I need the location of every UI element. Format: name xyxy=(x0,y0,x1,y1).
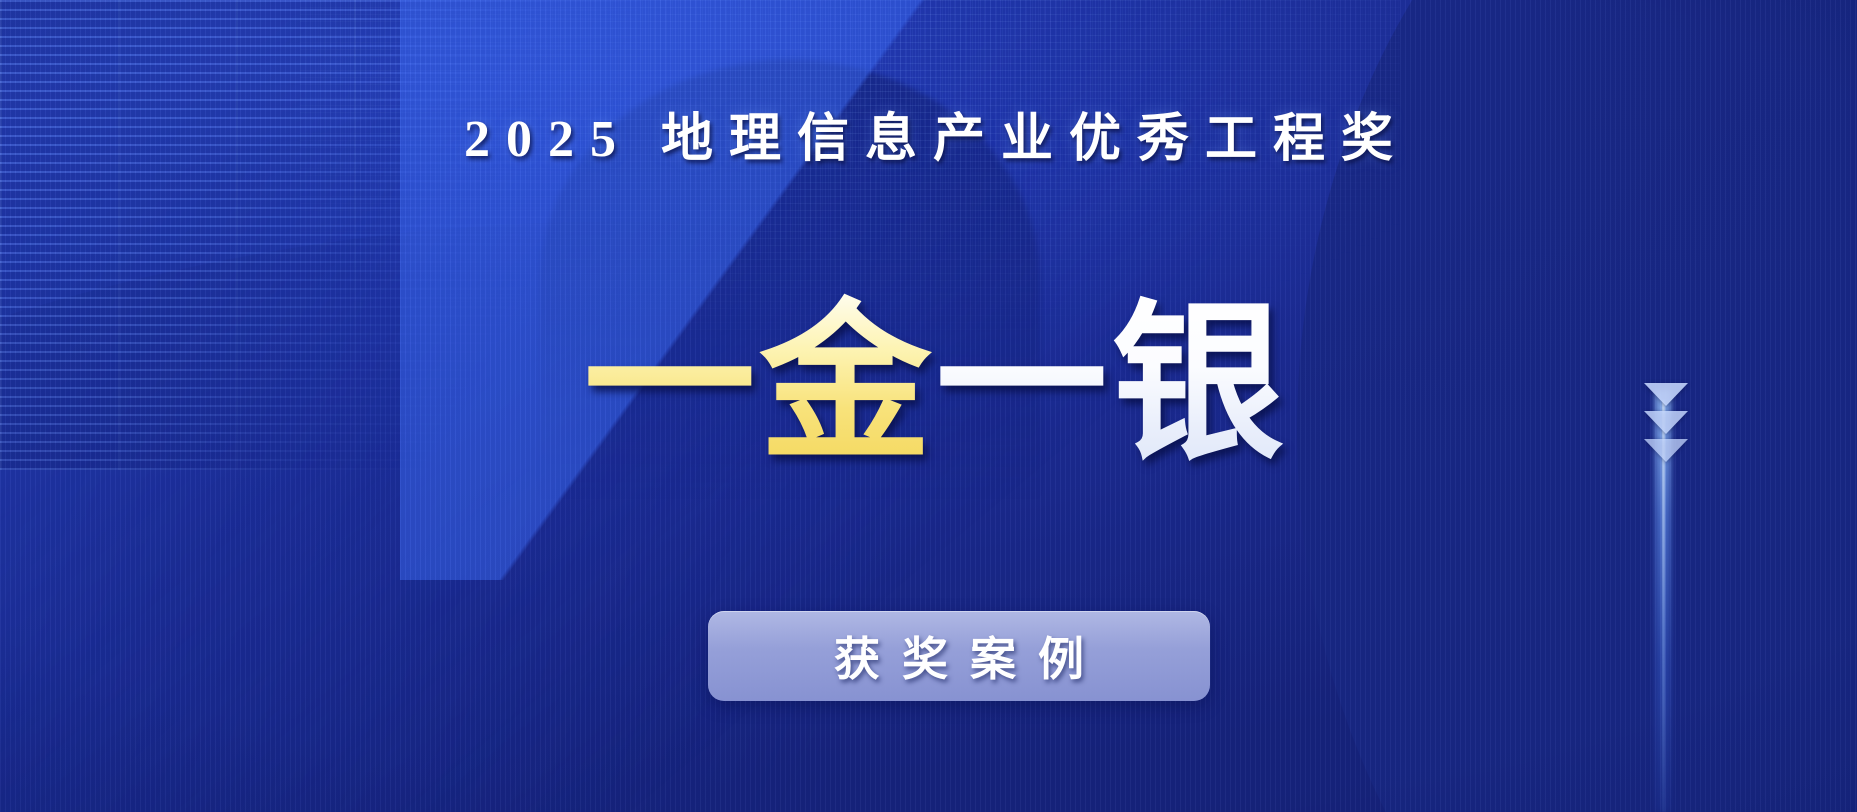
scroll-down-indicator[interactable] xyxy=(1643,383,1689,462)
headline-silver-text: 一银 xyxy=(936,291,1288,481)
headline-gold-text: 一金 xyxy=(584,291,936,481)
chevron-down-icon xyxy=(1644,411,1688,434)
headline: 一金一银 xyxy=(0,300,1857,472)
chevron-down-icon xyxy=(1644,383,1688,406)
award-title: 2025 地理信息产业优秀工程奖 xyxy=(0,96,1857,171)
chevron-down-icon xyxy=(1644,439,1688,462)
award-cases-button[interactable]: 获奖案例 xyxy=(708,611,1210,701)
banner-content: 2025 地理信息产业优秀工程奖 一金一银 获奖案例 xyxy=(0,0,1857,812)
award-cases-button-label: 获奖案例 xyxy=(812,623,1106,689)
award-banner: 2025 地理信息产业优秀工程奖 一金一银 获奖案例 xyxy=(0,0,1857,812)
